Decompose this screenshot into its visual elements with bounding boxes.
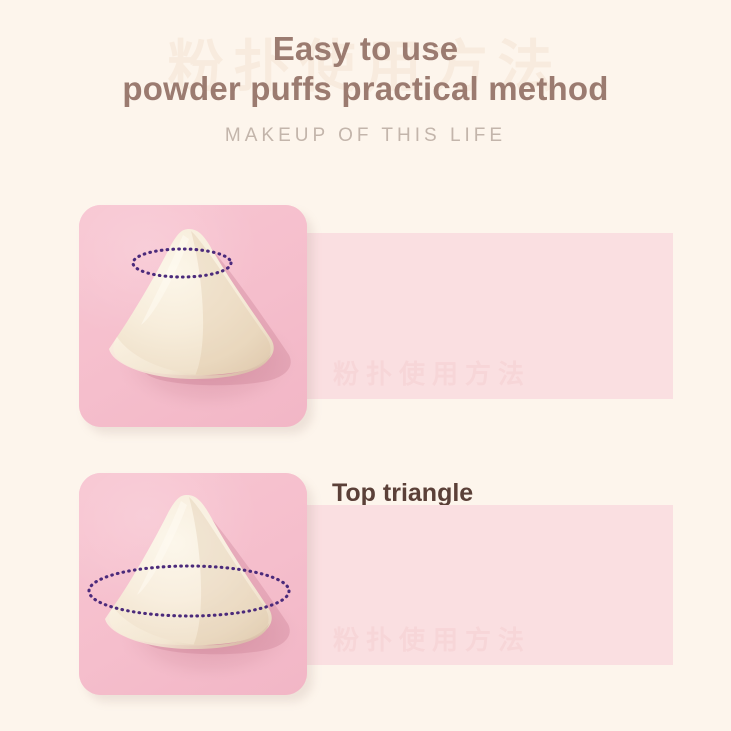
page-subtitle: MAKEUP OF THIS LIFE xyxy=(0,108,731,147)
panel-watermark: 粉扑使用方法 xyxy=(333,620,531,657)
text-panel: 粉扑使用方法 xyxy=(307,505,673,665)
page-header: 粉扑使用方法 Easy to use powder puffs practica… xyxy=(0,0,731,175)
page-title-line1: Easy to use xyxy=(0,0,731,68)
powder-puff-photo xyxy=(79,205,307,427)
panel-watermark: 粉扑使用方法 xyxy=(333,354,531,391)
page-title-line2: powder puffs practical method xyxy=(0,68,731,108)
text-panel: 粉扑使用方法 xyxy=(307,233,673,399)
powder-puff-image-card[interactable] xyxy=(79,473,307,695)
powder-puff-photo xyxy=(79,473,307,695)
card-heading: Top triangle xyxy=(332,479,473,508)
promo-page: 粉扑使用方法 Easy to use powder puffs practica… xyxy=(0,0,731,731)
puff-illustration-icon xyxy=(79,205,307,427)
title-block: Easy to use powder puffs practical metho… xyxy=(0,0,731,147)
puff-illustration-icon xyxy=(79,473,307,695)
powder-puff-image-card[interactable] xyxy=(79,205,307,427)
